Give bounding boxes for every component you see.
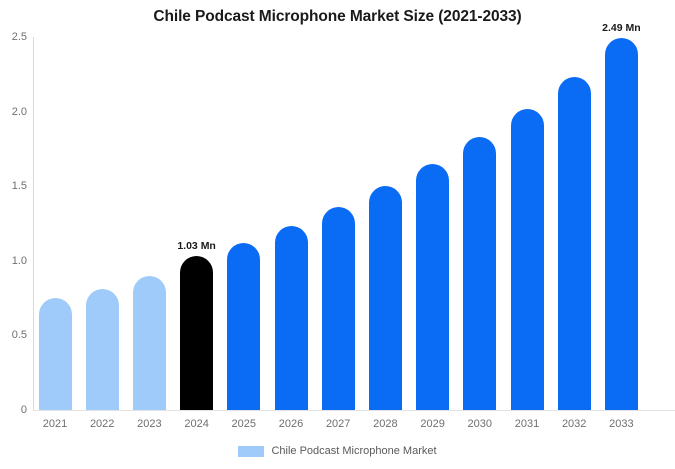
bar-slot xyxy=(39,298,72,410)
bar-slot xyxy=(463,137,496,410)
bar-slot xyxy=(511,109,544,410)
bar-slot: 2.49 Mn xyxy=(605,38,638,410)
bar-2024[interactable] xyxy=(180,256,213,410)
bar-2033[interactable] xyxy=(605,38,638,410)
bar-2032[interactable] xyxy=(558,77,591,410)
bar-value-label: 1.03 Mn xyxy=(177,240,216,252)
chart-legend: Chile Podcast Microphone Market xyxy=(0,445,675,457)
legend-label: Chile Podcast Microphone Market xyxy=(271,445,436,457)
y-tick-label: 2.0 xyxy=(0,106,27,118)
bar-slot xyxy=(86,289,119,410)
chart-title: Chile Podcast Microphone Market Size (20… xyxy=(0,8,675,26)
bar-slot xyxy=(369,186,402,410)
y-tick-label: 1.5 xyxy=(0,180,27,192)
bar-slot xyxy=(227,243,260,410)
x-tick-label: 2033 xyxy=(591,418,651,430)
bar-slot xyxy=(416,164,449,410)
bar-chart: Chile Podcast Microphone Market Size (20… xyxy=(0,0,675,469)
bar-2029[interactable] xyxy=(416,164,449,410)
legend-swatch-icon xyxy=(238,446,264,457)
bar-slot xyxy=(133,276,166,410)
y-tick-label: 1.0 xyxy=(0,255,27,267)
bar-2026[interactable] xyxy=(275,226,308,410)
y-tick-label: 2.5 xyxy=(0,31,27,43)
bar-slot xyxy=(322,207,355,410)
y-tick-label: 0 xyxy=(0,404,27,416)
bar-slot: 1.03 Mn xyxy=(180,256,213,410)
bar-2028[interactable] xyxy=(369,186,402,410)
bar-2022[interactable] xyxy=(86,289,119,410)
bar-slot xyxy=(558,77,591,410)
bar-2023[interactable] xyxy=(133,276,166,410)
bar-2025[interactable] xyxy=(227,243,260,410)
y-tick-label: 0.5 xyxy=(0,329,27,341)
bar-slot xyxy=(275,226,308,410)
bar-2027[interactable] xyxy=(322,207,355,410)
bar-2030[interactable] xyxy=(463,137,496,410)
bar-2021[interactable] xyxy=(39,298,72,410)
bar-value-label: 2.49 Mn xyxy=(602,22,641,34)
bar-2031[interactable] xyxy=(511,109,544,410)
x-axis-line xyxy=(33,410,675,411)
